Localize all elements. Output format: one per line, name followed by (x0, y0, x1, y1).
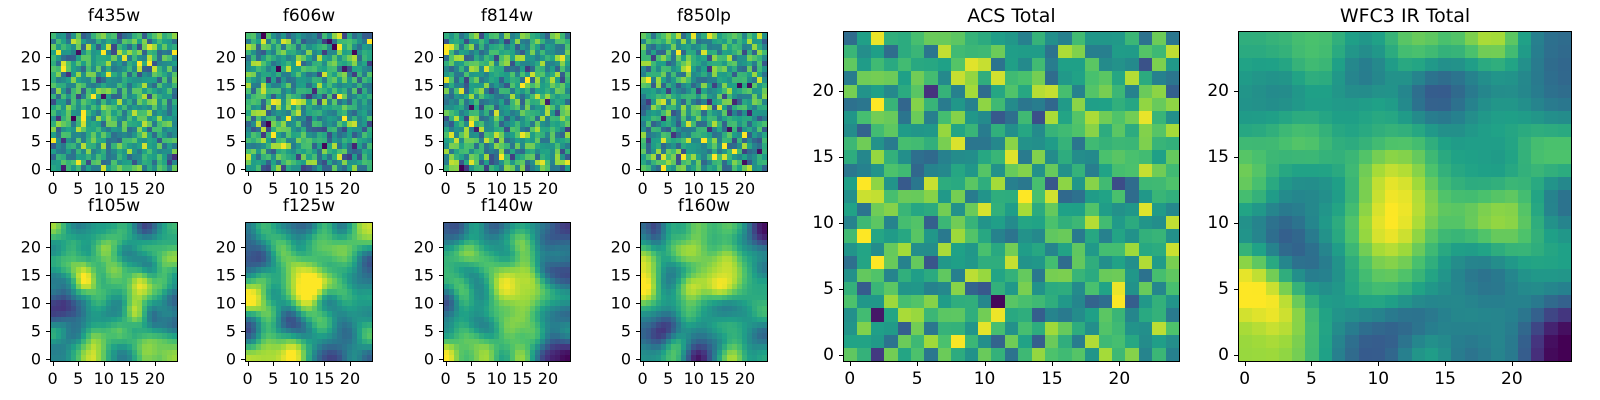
x-tick-label: 0 (1239, 369, 1250, 389)
x-tick-label: 5 (73, 369, 83, 388)
y-tick-label: 5 (199, 132, 236, 151)
y-tick-mark (1234, 355, 1238, 356)
x-tick-mark (299, 172, 300, 176)
x-tick-label: 20 (145, 369, 165, 388)
x-tick-mark (104, 172, 105, 176)
panel-f606w: f606w0055101015152020 (199, 6, 373, 202)
y-tick-label: 15 (4, 266, 41, 285)
x-tick-mark (917, 362, 918, 366)
y-tick-mark (636, 303, 640, 304)
x-tick-label: 15 (1434, 369, 1456, 389)
y-tick-mark (241, 85, 245, 86)
panel-title-f140w: f140w (443, 196, 571, 216)
y-tick-label: 10 (199, 294, 236, 313)
x-tick-mark (446, 362, 447, 366)
x-tick-mark (104, 362, 105, 366)
panel-f435w: f435w0055101015152020 (4, 6, 178, 202)
y-tick-mark (241, 275, 245, 276)
x-tick-label: 15 (119, 369, 139, 388)
x-tick-label: 15 (1041, 369, 1063, 389)
heatmap-acs-total (843, 31, 1180, 362)
x-tick-label: 10 (94, 369, 114, 388)
y-tick-label: 0 (397, 350, 434, 369)
y-tick-label: 15 (594, 266, 631, 285)
y-tick-mark (241, 247, 245, 248)
x-tick-mark (548, 362, 549, 366)
y-tick-mark (241, 113, 245, 114)
panel-f850lp: f850lp0055101015152020 (594, 6, 768, 202)
y-tick-label: 0 (4, 350, 41, 369)
y-tick-mark (439, 113, 443, 114)
x-tick-mark (350, 362, 351, 366)
y-tick-mark (439, 275, 443, 276)
heatmap-f105w (50, 222, 178, 362)
y-tick-mark (439, 141, 443, 142)
panel-title-f125w: f125w (245, 196, 373, 216)
x-tick-mark (643, 172, 644, 176)
x-tick-label: 10 (974, 369, 996, 389)
x-tick-label: 20 (1501, 369, 1523, 389)
y-tick-label: 10 (1192, 213, 1229, 233)
y-tick-label: 10 (4, 294, 41, 313)
x-tick-mark (668, 172, 669, 176)
y-tick-mark (46, 247, 50, 248)
y-tick-label: 20 (1192, 81, 1229, 101)
panel-acs-total: ACS Total0055101015152020 (797, 5, 1180, 392)
x-tick-mark (78, 362, 79, 366)
x-tick-mark (155, 172, 156, 176)
x-tick-mark (497, 362, 498, 366)
x-tick-mark (668, 362, 669, 366)
x-tick-mark (350, 172, 351, 176)
panel-title-f850lp: f850lp (640, 6, 768, 26)
x-tick-label: 10 (1367, 369, 1389, 389)
y-tick-mark (636, 275, 640, 276)
y-tick-label: 0 (797, 345, 834, 365)
y-tick-mark (636, 169, 640, 170)
x-tick-mark (1512, 362, 1513, 366)
x-tick-mark (1052, 362, 1053, 366)
y-tick-label: 15 (1192, 147, 1229, 167)
y-tick-label: 10 (4, 104, 41, 123)
panel-f160w: f160w0055101015152020 (594, 196, 768, 392)
y-tick-label: 0 (4, 160, 41, 179)
y-tick-label: 20 (397, 48, 434, 67)
y-tick-mark (46, 331, 50, 332)
y-tick-mark (1234, 289, 1238, 290)
y-tick-label: 20 (4, 48, 41, 67)
x-tick-mark (643, 362, 644, 366)
x-tick-label: 15 (709, 369, 729, 388)
x-tick-label: 10 (289, 369, 309, 388)
x-tick-label: 20 (1109, 369, 1131, 389)
x-tick-mark (324, 362, 325, 366)
x-tick-label: 5 (268, 369, 278, 388)
y-tick-label: 20 (397, 238, 434, 257)
x-tick-mark (719, 362, 720, 366)
y-tick-label: 20 (199, 238, 236, 257)
y-tick-mark (439, 359, 443, 360)
y-tick-mark (241, 57, 245, 58)
y-tick-label: 10 (797, 213, 834, 233)
x-tick-label: 20 (340, 369, 360, 388)
panel-f140w: f140w0055101015152020 (397, 196, 571, 392)
y-tick-mark (241, 331, 245, 332)
y-tick-label: 15 (4, 76, 41, 95)
x-tick-label: 0 (242, 369, 252, 388)
panel-wfc3-ir-total: WFC3 IR Total0055101015152020 (1192, 5, 1572, 392)
y-tick-label: 0 (199, 160, 236, 179)
y-tick-label: 10 (397, 104, 434, 123)
y-tick-label: 0 (199, 350, 236, 369)
y-tick-mark (439, 169, 443, 170)
x-tick-mark (1378, 362, 1379, 366)
y-tick-mark (839, 355, 843, 356)
panel-f125w: f125w0055101015152020 (199, 196, 373, 392)
x-tick-mark (53, 362, 54, 366)
x-tick-label: 0 (844, 369, 855, 389)
y-tick-mark (636, 57, 640, 58)
y-tick-mark (46, 359, 50, 360)
y-tick-label: 20 (594, 238, 631, 257)
x-tick-label: 15 (314, 369, 334, 388)
y-tick-label: 0 (594, 160, 631, 179)
x-tick-label: 5 (1306, 369, 1317, 389)
x-tick-label: 20 (735, 369, 755, 388)
y-tick-label: 5 (1192, 279, 1229, 299)
x-tick-label: 0 (637, 369, 647, 388)
x-tick-mark (497, 172, 498, 176)
x-tick-label: 10 (684, 369, 704, 388)
y-tick-mark (46, 113, 50, 114)
x-tick-mark (129, 172, 130, 176)
y-tick-label: 10 (397, 294, 434, 313)
x-tick-mark (446, 172, 447, 176)
y-tick-mark (839, 223, 843, 224)
y-tick-label: 5 (797, 279, 834, 299)
y-tick-label: 15 (199, 266, 236, 285)
y-tick-mark (1234, 223, 1238, 224)
y-tick-label: 20 (4, 238, 41, 257)
panel-title-f160w: f160w (640, 196, 768, 216)
heatmap-f850lp (640, 32, 768, 172)
y-tick-label: 20 (199, 48, 236, 67)
y-tick-mark (636, 85, 640, 86)
x-tick-mark (522, 172, 523, 176)
panel-title-f105w: f105w (50, 196, 178, 216)
y-tick-label: 15 (397, 76, 434, 95)
y-tick-mark (46, 85, 50, 86)
x-tick-label: 20 (538, 369, 558, 388)
x-tick-mark (129, 362, 130, 366)
y-tick-label: 15 (594, 76, 631, 95)
y-tick-label: 10 (594, 104, 631, 123)
y-tick-mark (636, 247, 640, 248)
heatmap-f435w (50, 32, 178, 172)
panel-title-f814w: f814w (443, 6, 571, 26)
x-tick-mark (155, 362, 156, 366)
x-tick-mark (850, 362, 851, 366)
x-tick-mark (745, 362, 746, 366)
y-tick-mark (1234, 91, 1238, 92)
x-tick-mark (1445, 362, 1446, 366)
x-tick-mark (273, 362, 274, 366)
y-tick-mark (46, 141, 50, 142)
x-tick-mark (273, 172, 274, 176)
y-tick-mark (241, 141, 245, 142)
y-tick-mark (636, 359, 640, 360)
heatmap-f140w (443, 222, 571, 362)
y-tick-label: 5 (4, 322, 41, 341)
y-tick-label: 5 (397, 132, 434, 151)
y-tick-mark (241, 359, 245, 360)
y-tick-mark (46, 169, 50, 170)
y-tick-label: 15 (397, 266, 434, 285)
y-tick-mark (439, 303, 443, 304)
y-tick-mark (46, 303, 50, 304)
x-tick-mark (471, 362, 472, 366)
x-tick-mark (985, 362, 986, 366)
y-tick-mark (1234, 157, 1238, 158)
y-tick-label: 15 (797, 147, 834, 167)
panel-title-f606w: f606w (245, 6, 373, 26)
x-tick-mark (248, 172, 249, 176)
panel-f105w: f105w0055101015152020 (4, 196, 178, 392)
y-tick-mark (439, 331, 443, 332)
figure-canvas: f435w0055101015152020f606w00551010151520… (0, 0, 1600, 400)
x-tick-label: 15 (512, 369, 532, 388)
y-tick-label: 15 (199, 76, 236, 95)
heatmap-f814w (443, 32, 571, 172)
y-tick-mark (46, 275, 50, 276)
y-tick-label: 5 (594, 132, 631, 151)
heatmap-f606w (245, 32, 373, 172)
x-tick-mark (324, 172, 325, 176)
x-tick-mark (522, 362, 523, 366)
y-tick-mark (839, 91, 843, 92)
y-tick-label: 20 (594, 48, 631, 67)
y-tick-mark (839, 157, 843, 158)
heatmap-f160w (640, 222, 768, 362)
panel-title-acs-total: ACS Total (843, 5, 1180, 27)
y-tick-label: 10 (199, 104, 236, 123)
y-tick-mark (636, 141, 640, 142)
y-tick-label: 5 (4, 132, 41, 151)
x-tick-label: 5 (912, 369, 923, 389)
x-tick-mark (299, 362, 300, 366)
y-tick-mark (46, 57, 50, 58)
y-tick-label: 5 (199, 322, 236, 341)
heatmap-wfc3-ir-total (1238, 31, 1572, 362)
y-tick-mark (439, 247, 443, 248)
y-tick-label: 0 (397, 160, 434, 179)
x-tick-mark (548, 172, 549, 176)
y-tick-label: 0 (594, 350, 631, 369)
y-tick-mark (241, 303, 245, 304)
x-tick-label: 5 (663, 369, 673, 388)
y-tick-label: 5 (594, 322, 631, 341)
panel-title-f435w: f435w (50, 6, 178, 26)
y-tick-mark (636, 113, 640, 114)
y-tick-mark (839, 289, 843, 290)
y-tick-mark (636, 331, 640, 332)
y-tick-label: 20 (797, 81, 834, 101)
y-tick-label: 5 (397, 322, 434, 341)
x-tick-mark (1311, 362, 1312, 366)
heatmap-f125w (245, 222, 373, 362)
x-tick-mark (78, 172, 79, 176)
x-tick-mark (248, 362, 249, 366)
x-tick-mark (694, 362, 695, 366)
x-tick-label: 0 (440, 369, 450, 388)
y-tick-mark (241, 169, 245, 170)
x-tick-label: 5 (466, 369, 476, 388)
y-tick-label: 10 (594, 294, 631, 313)
x-tick-mark (745, 172, 746, 176)
x-tick-mark (471, 172, 472, 176)
x-tick-mark (694, 172, 695, 176)
x-tick-label: 10 (487, 369, 507, 388)
y-tick-label: 0 (1192, 345, 1229, 365)
panel-title-wfc3-ir-total: WFC3 IR Total (1238, 5, 1572, 27)
panel-f814w: f814w0055101015152020 (397, 6, 571, 202)
x-tick-label: 0 (47, 369, 57, 388)
y-tick-mark (439, 57, 443, 58)
x-tick-mark (1119, 362, 1120, 366)
x-tick-mark (53, 172, 54, 176)
x-tick-mark (1245, 362, 1246, 366)
x-tick-mark (719, 172, 720, 176)
y-tick-mark (439, 85, 443, 86)
